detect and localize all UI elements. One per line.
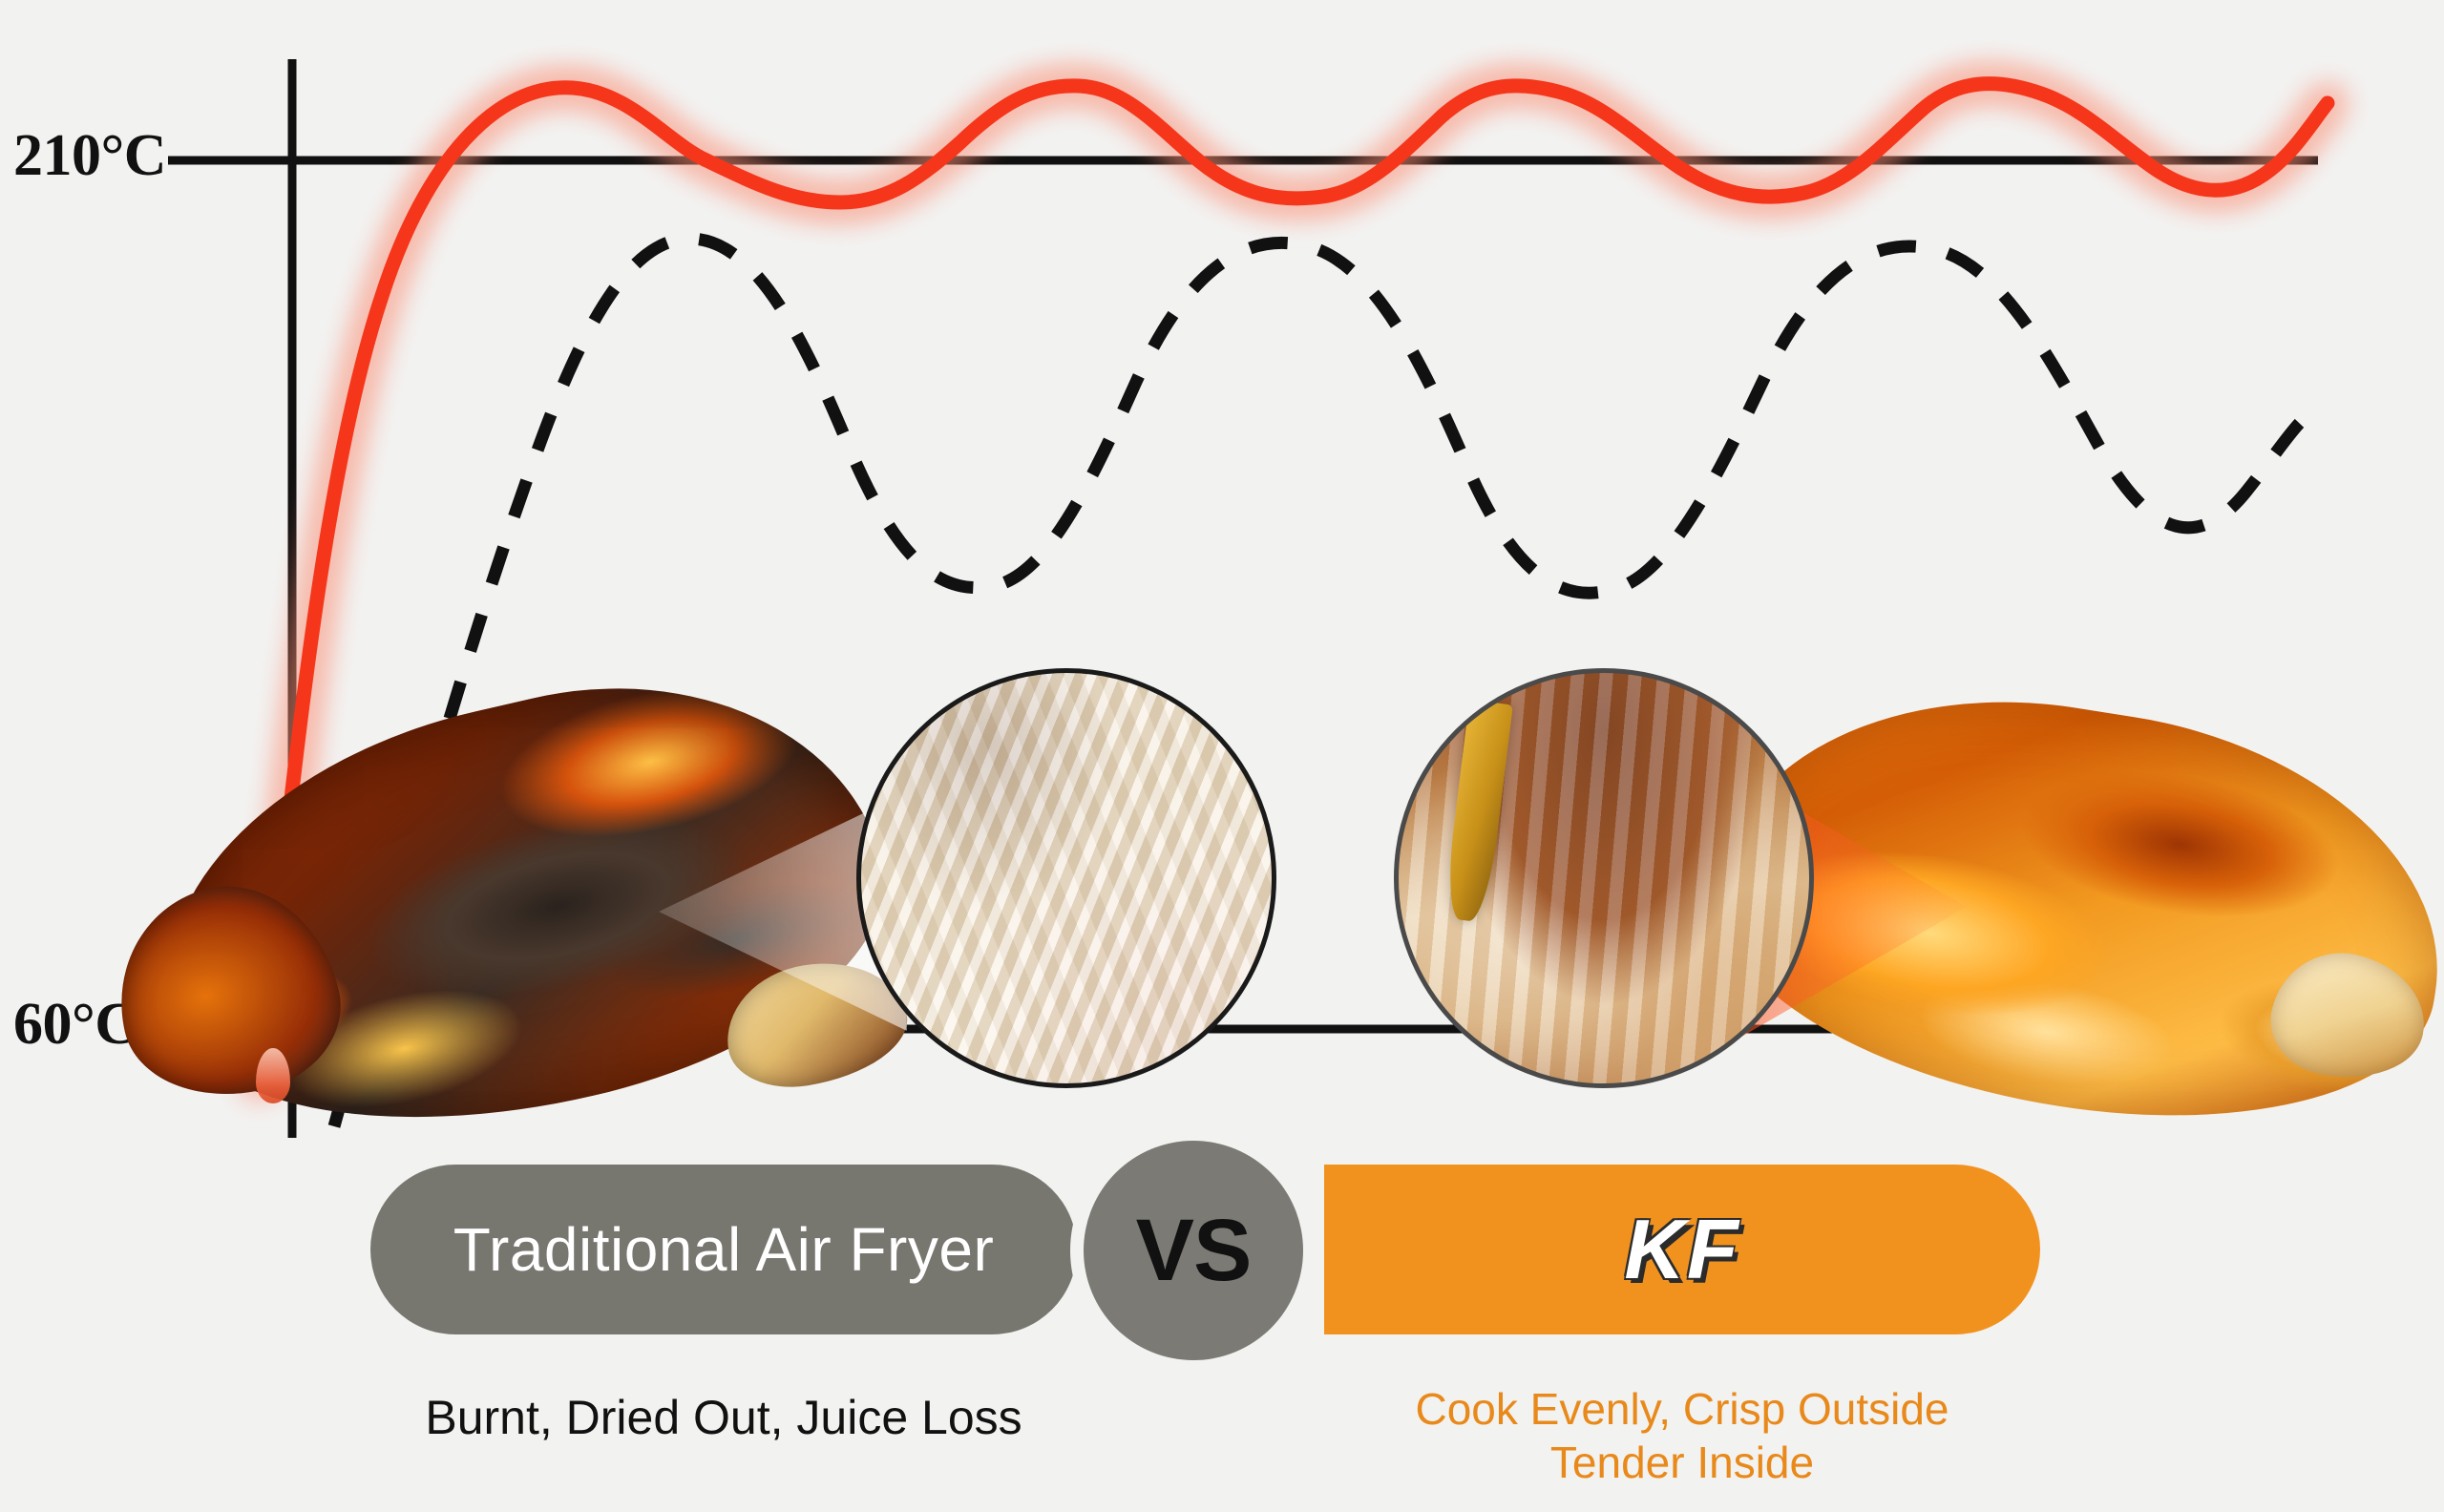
kf-label: KF [1624, 1201, 1739, 1298]
left-magnifier-dry-meat [856, 668, 1276, 1088]
right-caption: Cook Evenly, Crisp Outside Tender Inside [1324, 1382, 2040, 1489]
right-magnifier-juicy-meat [1394, 668, 1814, 1088]
traditional-air-fryer-pill[interactable]: Traditional Air Fryer [370, 1165, 1077, 1334]
kf-pill[interactable]: KF [1324, 1165, 2040, 1334]
vs-badge: VS [1084, 1141, 1303, 1360]
infographic-canvas: 210°C 60°C Traditional Air Fryer KF VS B… [0, 0, 2444, 1512]
axis-label-210c: 210°C [13, 122, 166, 190]
fork-icon [1443, 700, 1513, 923]
traditional-air-fryer-label: Traditional Air Fryer [453, 1214, 995, 1285]
left-caption: Burnt, Dried Out, Juice Loss [370, 1389, 1077, 1447]
axis-label-60c: 60°C [13, 991, 137, 1059]
vs-label: VS [1136, 1201, 1252, 1301]
